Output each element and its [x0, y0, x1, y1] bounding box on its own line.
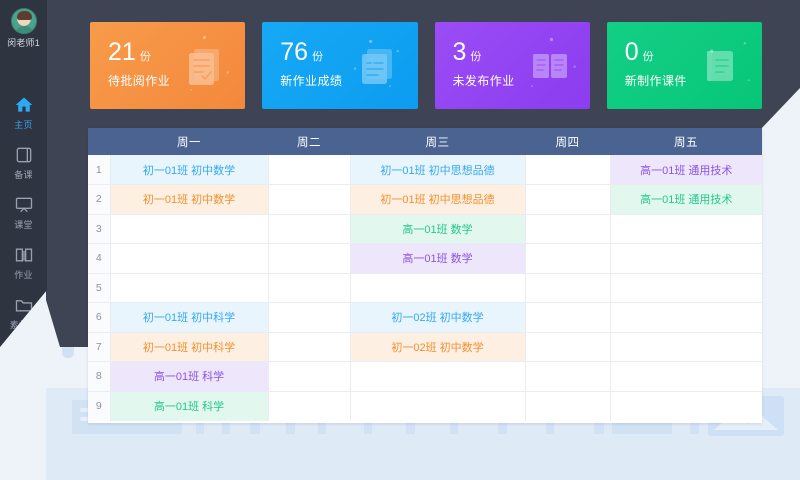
empty-cell-thursday-p3 — [525, 214, 610, 244]
empty-cell-friday-p7 — [610, 332, 762, 362]
empty-cell-thursday-p6 — [525, 303, 610, 333]
table-row: 7初一01班 初中科学初一02班 初中数学 — [88, 332, 762, 362]
sidebar-nav: 主页 备课 课堂 — [0, 88, 47, 338]
table-row: 4高一01班 数学 — [88, 244, 762, 274]
empty-cell-thursday-p4 — [525, 244, 610, 274]
open-book-icon — [14, 245, 34, 265]
document-check-icon — [185, 46, 223, 86]
empty-cell-monday-p3 — [110, 214, 268, 244]
stat-card-pending-review[interactable]: 21 份 待批阅作业 — [90, 22, 245, 109]
table-row: 9高一01班 科学 — [88, 391, 762, 421]
stat-card-new-courseware[interactable]: 0 份 新制作课件 — [607, 22, 762, 109]
empty-cell-friday-p3 — [610, 214, 762, 244]
empty-cell-tuesday-p5 — [268, 273, 350, 303]
class-cell-wednesday-p1[interactable]: 初一01班 初中思想品德 — [350, 155, 525, 185]
timetable-header-row: 周一 周二 周三 周四 周五 — [88, 128, 762, 155]
empty-cell-thursday-p9 — [525, 391, 610, 421]
sidebar-item-homework[interactable]: 作业 — [0, 238, 47, 288]
stat-number: 0 — [625, 40, 639, 65]
class-cell-wednesday-p2[interactable]: 初一01班 初中思想品德 — [350, 185, 525, 215]
stat-cards: 21 份 待批阅作业 76 — [90, 22, 762, 109]
stat-card-new-grades[interactable]: 76 份 新作业成绩 — [262, 22, 417, 109]
empty-cell-thursday-p7 — [525, 332, 610, 362]
empty-cell-tuesday-p8 — [268, 362, 350, 392]
class-cell-friday-p2[interactable]: 高一01班 通用技术 — [610, 185, 762, 215]
table-row: 2初一01班 初中数学初一01班 初中思想品德高一01班 通用技术 — [88, 185, 762, 215]
stat-card-new-grades-value: 76 份 — [280, 40, 323, 65]
table-row: 3高一01班 数学 — [88, 214, 762, 244]
sidebar-item-homework-label: 作业 — [14, 268, 32, 281]
stat-card-pending-review-value: 21 份 — [108, 40, 151, 65]
col-header-index — [88, 128, 110, 155]
class-cell-monday-p6[interactable]: 初一01班 初中科学 — [110, 303, 268, 333]
row-period-number: 5 — [88, 273, 110, 303]
col-header-friday: 周五 — [610, 128, 762, 155]
empty-cell-tuesday-p7 — [268, 332, 350, 362]
row-period-number: 7 — [88, 332, 110, 362]
empty-cell-thursday-p5 — [525, 273, 610, 303]
stat-card-pending-review-label: 待批阅作业 — [108, 72, 170, 89]
graded-paper-icon — [358, 46, 396, 86]
book-icon — [14, 145, 34, 165]
empty-cell-tuesday-p6 — [268, 303, 350, 333]
col-header-wednesday: 周三 — [350, 128, 525, 155]
class-cell-monday-p2[interactable]: 初一01班 初中数学 — [110, 185, 268, 215]
empty-cell-tuesday-p9 — [268, 391, 350, 421]
stat-unit: 份 — [140, 48, 151, 64]
class-cell-monday-p9[interactable]: 高一01班 科学 — [110, 391, 268, 421]
stat-card-unpublished-homework-label: 未发布作业 — [453, 72, 515, 89]
empty-cell-tuesday-p2 — [268, 185, 350, 215]
empty-cell-friday-p4 — [610, 244, 762, 274]
empty-cell-tuesday-p3 — [268, 214, 350, 244]
stat-number: 21 — [108, 40, 136, 65]
empty-cell-thursday-p1 — [525, 155, 610, 185]
class-cell-wednesday-p3[interactable]: 高一01班 数学 — [350, 214, 525, 244]
table-row: 8高一01班 科学 — [88, 362, 762, 392]
row-period-number: 2 — [88, 185, 110, 215]
timetable-body: 1初一01班 初中数学初一01班 初中思想品德高一01班 通用技术2初一01班 … — [88, 155, 762, 421]
sidebar-item-classroom-label: 课堂 — [14, 218, 32, 231]
teacher-avatar-icon — [11, 8, 37, 34]
empty-cell-wednesday-p8 — [350, 362, 525, 392]
stat-card-new-grades-label: 新作业成绩 — [280, 72, 342, 89]
stat-card-new-courseware-label: 新制作课件 — [625, 72, 687, 89]
stat-unit: 份 — [312, 48, 323, 64]
empty-cell-thursday-p8 — [525, 362, 610, 392]
avatar[interactable] — [11, 8, 37, 34]
empty-cell-friday-p8 — [610, 362, 762, 392]
class-cell-monday-p7[interactable]: 初一01班 初中科学 — [110, 332, 268, 362]
class-cell-friday-p1[interactable]: 高一01班 通用技术 — [610, 155, 762, 185]
stat-unit: 份 — [643, 48, 654, 64]
class-cell-wednesday-p6[interactable]: 初一02班 初中数学 — [350, 303, 525, 333]
empty-cell-tuesday-p1 — [268, 155, 350, 185]
sidebar-item-home-label: 主页 — [14, 118, 32, 131]
empty-cell-friday-p6 — [610, 303, 762, 333]
stat-number: 3 — [453, 40, 467, 65]
col-header-thursday: 周四 — [525, 128, 610, 155]
empty-cell-monday-p4 — [110, 244, 268, 274]
empty-cell-friday-p5 — [610, 273, 762, 303]
class-cell-monday-p8[interactable]: 高一01班 科学 — [110, 362, 268, 392]
table-row: 6初一01班 初中科学初一02班 初中数学 — [88, 303, 762, 333]
user-name: 闵老师1 — [0, 36, 47, 49]
table-row: 5 — [88, 273, 762, 303]
app-root: 闵老师1 主页 备课 — [0, 0, 800, 480]
sidebar-item-lesson-prep[interactable]: 备课 — [0, 138, 47, 188]
row-period-number: 1 — [88, 155, 110, 185]
stat-card-new-courseware-value: 0 份 — [625, 40, 654, 65]
sidebar-item-classroom[interactable]: 课堂 — [0, 188, 47, 238]
empty-cell-friday-p9 — [610, 391, 762, 421]
empty-cell-monday-p5 — [110, 273, 268, 303]
row-period-number: 3 — [88, 214, 110, 244]
empty-cell-wednesday-p9 — [350, 391, 525, 421]
col-header-tuesday: 周二 — [268, 128, 350, 155]
row-period-number: 6 — [88, 303, 110, 333]
class-cell-wednesday-p4[interactable]: 高一01班 数学 — [350, 244, 525, 274]
sidebar-item-home[interactable]: 主页 — [0, 88, 47, 138]
sidebar-item-lesson-prep-label: 备课 — [14, 168, 32, 181]
table-row: 1初一01班 初中数学初一01班 初中思想品德高一01班 通用技术 — [88, 155, 762, 185]
board-icon — [14, 195, 34, 215]
class-cell-monday-p1[interactable]: 初一01班 初中数学 — [110, 155, 268, 185]
class-cell-wednesday-p7[interactable]: 初一02班 初中数学 — [350, 332, 525, 362]
empty-cell-thursday-p2 — [525, 185, 610, 215]
timetable-head: 周一 周二 周三 周四 周五 — [88, 128, 762, 155]
col-header-monday: 周一 — [110, 128, 268, 155]
open-book-icon — [530, 46, 568, 86]
stat-unit: 份 — [470, 48, 481, 64]
stat-card-unpublished-homework-value: 3 份 — [453, 40, 482, 65]
stat-number: 76 — [280, 40, 308, 65]
timetable: 周一 周二 周三 周四 周五 1初一01班 初中数学初一01班 初中思想品德高一… — [88, 128, 762, 421]
empty-cell-tuesday-p4 — [268, 244, 350, 274]
courseware-icon — [702, 46, 740, 86]
sidebar: 闵老师1 主页 备课 — [0, 0, 47, 480]
stat-card-unpublished-homework[interactable]: 3 份 未发布作业 — [435, 22, 590, 109]
folder-icon — [14, 295, 34, 315]
home-icon — [14, 95, 34, 115]
sidebar-item-resource-library-label: 素材库 — [10, 318, 38, 331]
row-period-number: 8 — [88, 362, 110, 392]
schedule-table: 周一 周二 周三 周四 周五 1初一01班 初中数学初一01班 初中思想品德高一… — [88, 128, 762, 423]
row-period-number: 9 — [88, 391, 110, 421]
row-period-number: 4 — [88, 244, 110, 274]
empty-cell-wednesday-p5 — [350, 273, 525, 303]
sidebar-item-resource-library[interactable]: 素材库 — [0, 288, 47, 338]
